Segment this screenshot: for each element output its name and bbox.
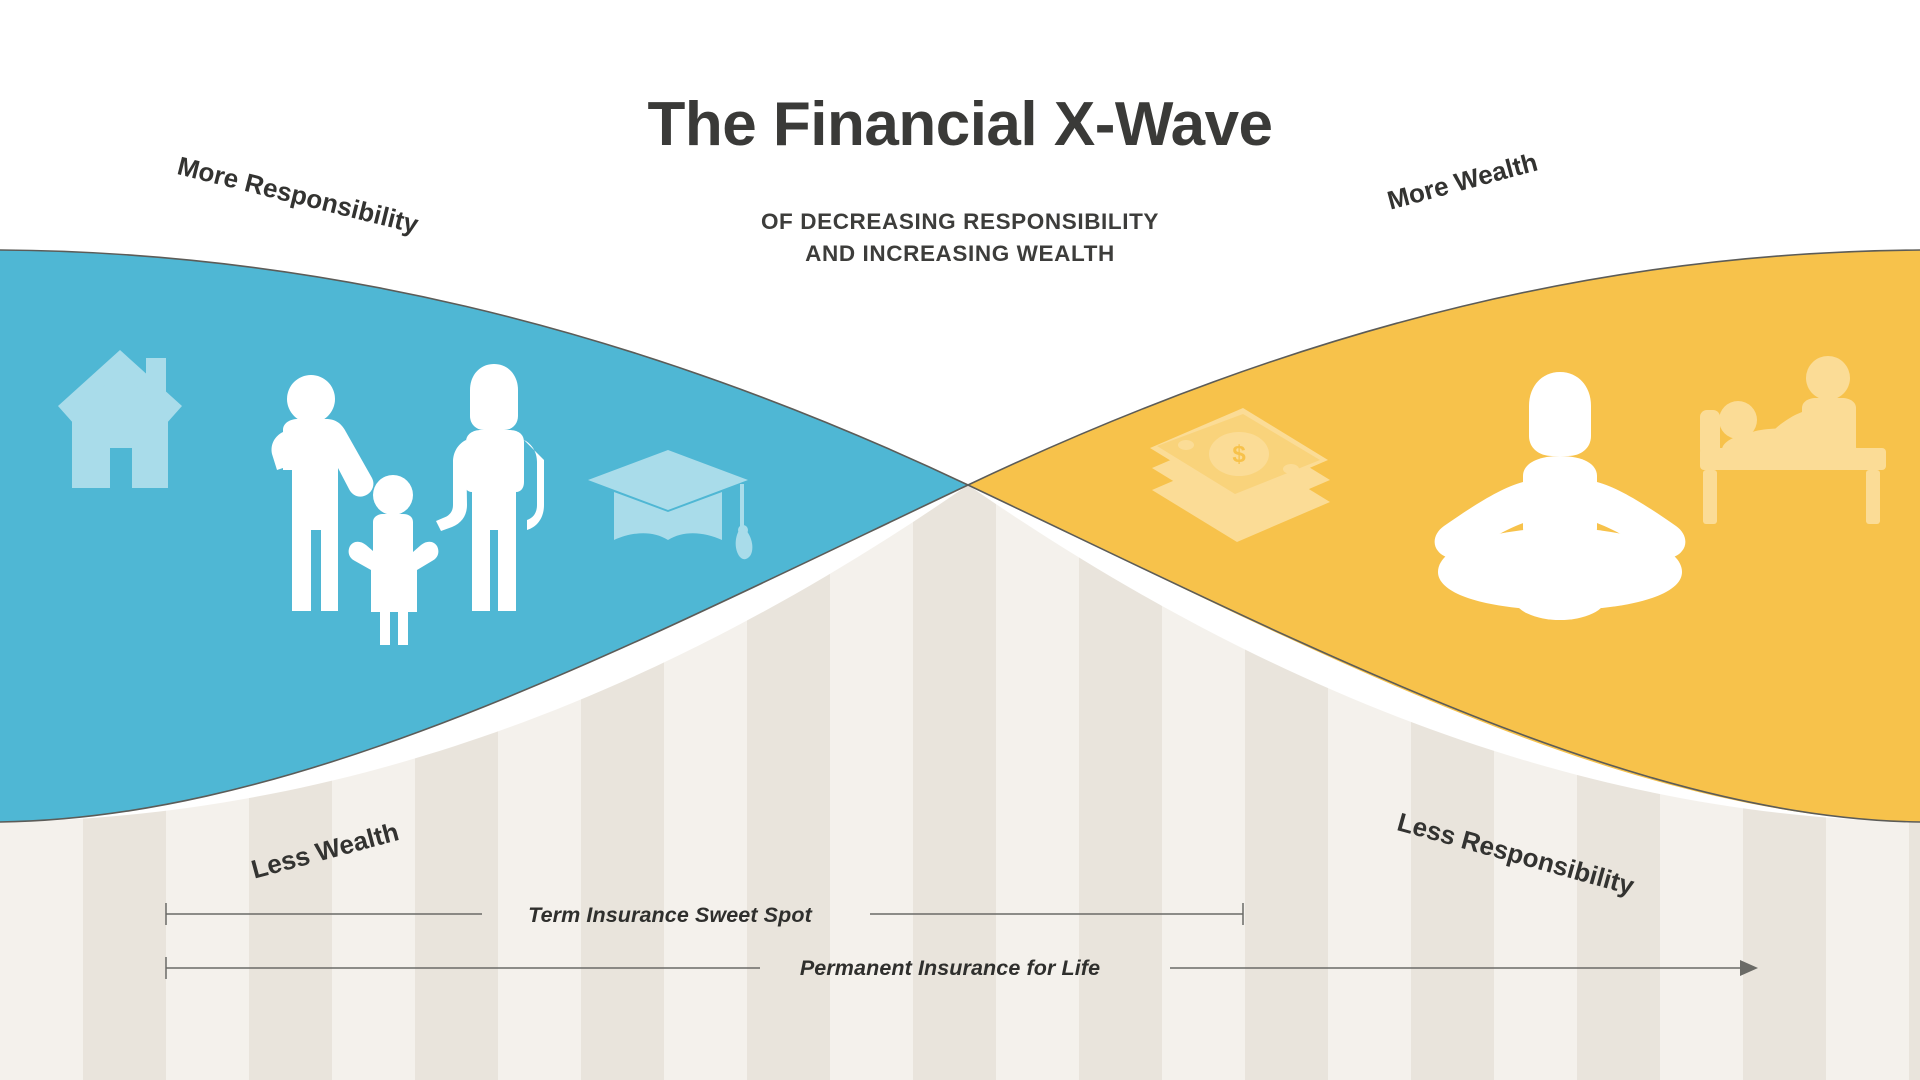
- infographic-canvas: $: [0, 0, 1920, 1080]
- annotation-term-insurance: Term Insurance Sweet Spot: [0, 903, 1630, 928]
- page-title: The Financial X-Wave: [0, 92, 1920, 157]
- svg-text:$: $: [1232, 441, 1246, 468]
- subtitle-line-2: AND INCREASING WEALTH: [0, 238, 1920, 270]
- page-subtitle: OF DECREASING RESPONSIBILITY AND INCREAS…: [0, 206, 1920, 270]
- annotation-permanent-insurance: Permanent Insurance for Life: [0, 956, 1910, 981]
- subtitle-line-1: OF DECREASING RESPONSIBILITY: [0, 206, 1920, 238]
